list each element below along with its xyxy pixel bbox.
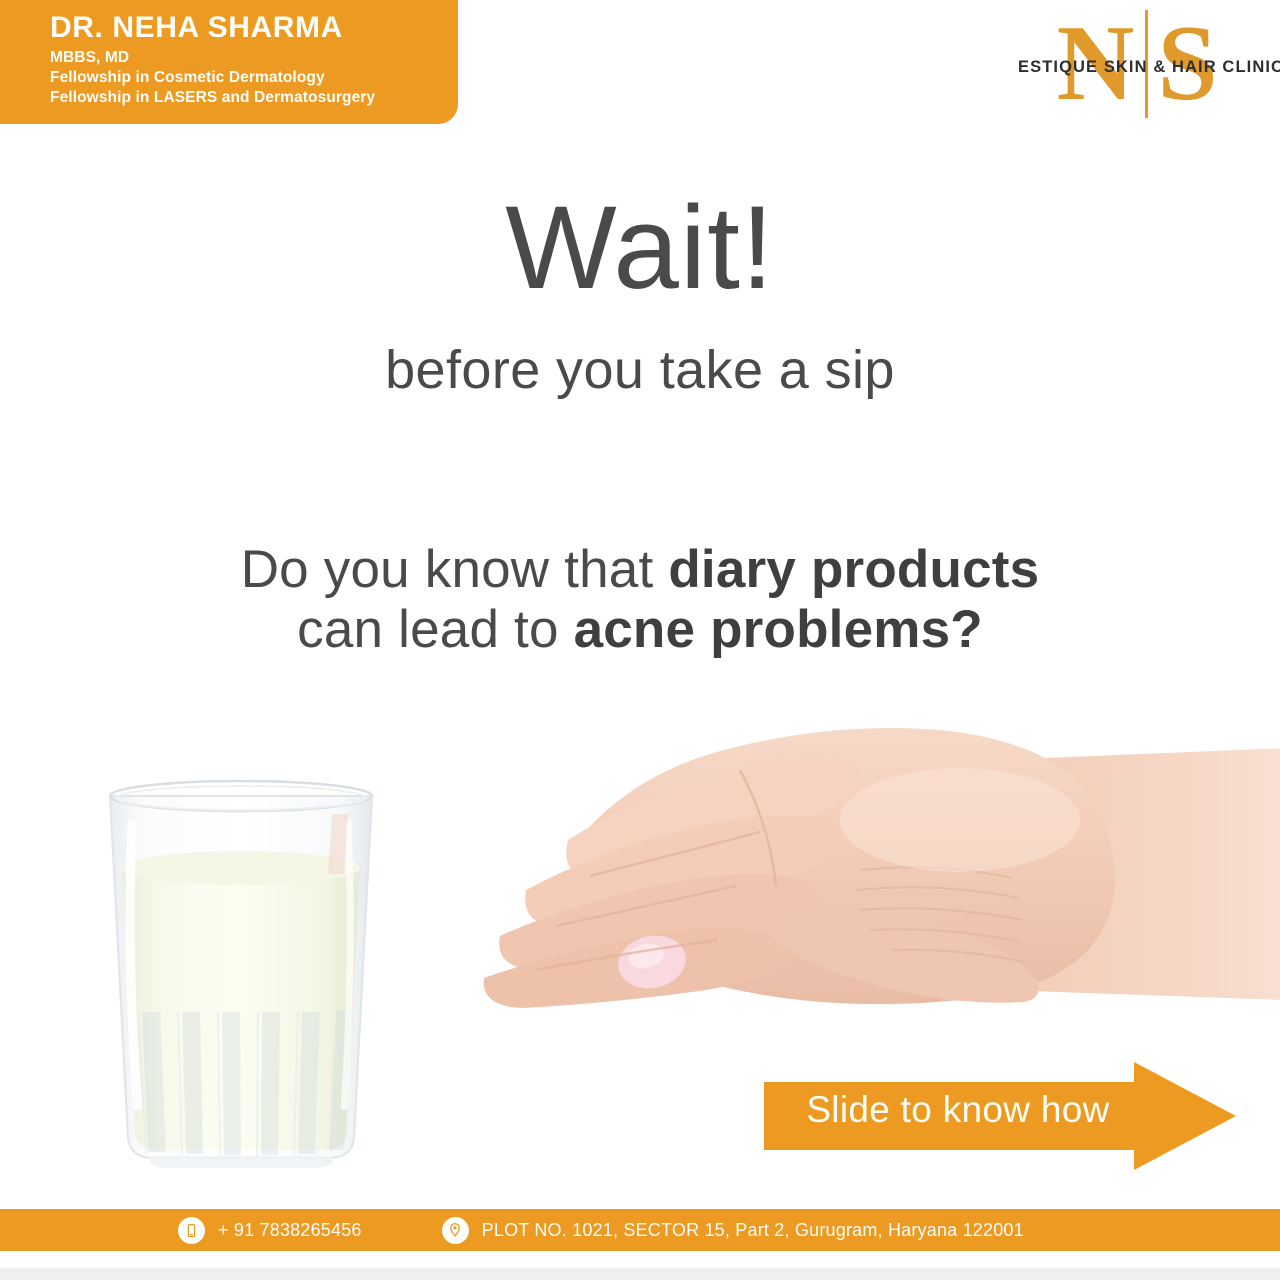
doctor-fellowship-cosmetic: Fellowship in Cosmetic Dermatology xyxy=(50,68,458,88)
footer-contact-bar: + 91 7838265456 PLOT NO. 1021, SECTOR 15… xyxy=(0,1209,1280,1251)
footer-white-strip xyxy=(0,1251,1280,1268)
mobile-phone-icon xyxy=(178,1217,205,1244)
doctor-name: DR. NEHA SHARMA xyxy=(50,10,458,46)
footer-address: PLOT NO. 1021, SECTOR 15, Part 2, Gurugr… xyxy=(482,1220,1024,1241)
question-line-1: Do you know that diary products xyxy=(0,540,1280,600)
location-pin-icon xyxy=(442,1217,469,1244)
footer-phone-item[interactable]: + 91 7838265456 xyxy=(178,1209,362,1251)
question-line-1-emphasis: diary products xyxy=(668,540,1039,599)
question-line-2: can lead to acne problems? xyxy=(0,600,1280,660)
footer-phone-number: + 91 7838265456 xyxy=(218,1220,362,1241)
question-line-1-plain: Do you know that xyxy=(241,540,669,599)
doctor-fellowship-lasers: Fellowship in LASERS and Dermatosurgery xyxy=(50,88,458,108)
refusing-hand-image xyxy=(440,700,1280,1040)
doctor-degree: MBBS, MD xyxy=(50,47,458,68)
clinic-logo: N S ESTIQUE SKIN & HAIR CLINIC xyxy=(1018,8,1258,120)
arrow-right-icon[interactable] xyxy=(764,1062,1236,1170)
question-line-2-emphasis: acne problems? xyxy=(574,600,983,659)
glass-of-milk-image xyxy=(86,780,396,1170)
footer-address-item[interactable]: PLOT NO. 1021, SECTOR 15, Part 2, Gurugr… xyxy=(442,1209,1024,1251)
hero-subheadline: before you take a sip xyxy=(0,338,1280,402)
logo-wordmark: ESTIQUE SKIN & HAIR CLINIC xyxy=(1018,58,1258,77)
footer-gray-strip xyxy=(0,1268,1280,1280)
hero-headline: Wait! xyxy=(0,186,1280,310)
doctor-credentials-badge: DR. NEHA SHARMA MBBS, MD Fellowship in C… xyxy=(0,0,458,124)
slide-to-know-how-arrow[interactable] xyxy=(764,1060,1236,1172)
promotional-poster: DR. NEHA SHARMA MBBS, MD Fellowship in C… xyxy=(0,0,1280,1280)
question-text: Do you know that diary products can lead… xyxy=(0,540,1280,660)
question-line-2-plain: can lead to xyxy=(297,600,573,659)
